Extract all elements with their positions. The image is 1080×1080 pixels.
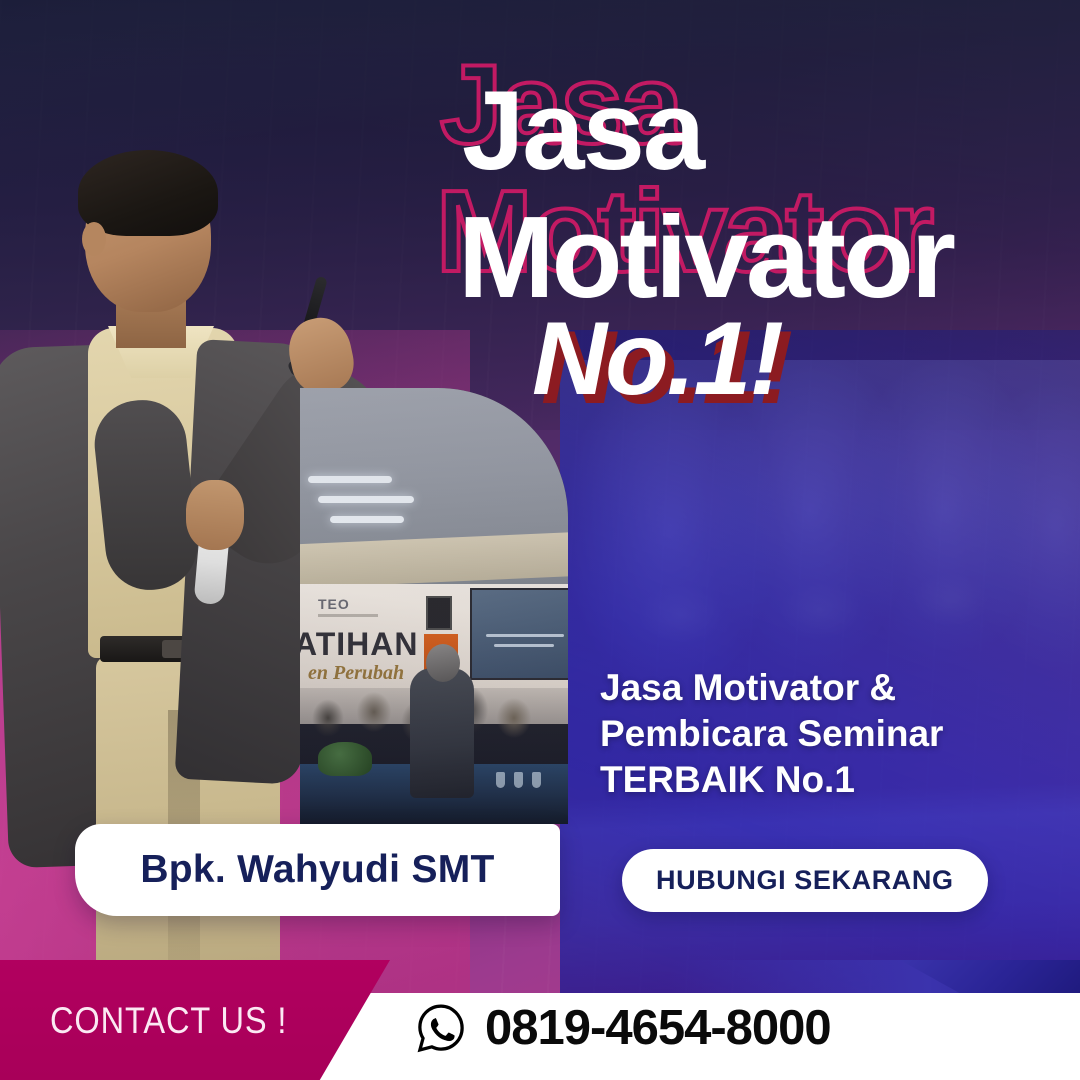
inset-training-photo: TEO ATIHAN en Perubah — [300, 388, 568, 824]
contact-us-label: CONTACT US ! — [50, 1000, 287, 1042]
headline-line-2: Motivator Motivator — [440, 168, 1040, 294]
speaker-name-label: Bpk. Wahyudi SMT — [140, 848, 494, 892]
subtitle-line-2: Pembicara Seminar — [600, 711, 1070, 757]
subtitle-line-1: Jasa Motivator & — [600, 665, 1070, 711]
speaker-ear — [82, 222, 106, 256]
inset-color-shade — [300, 388, 568, 824]
speaker-left-hand — [186, 480, 244, 550]
footer-bar: CONTACT US ! 0819-4654-8000 — [0, 960, 1080, 1080]
hubungi-sekarang-button[interactable]: HUBUNGI SEKARANG — [622, 849, 988, 912]
whatsapp-icon — [415, 1002, 467, 1054]
subtitle: Jasa Motivator & Pembicara Seminar TERBA… — [600, 665, 1070, 803]
phone-number: 0819-4654-8000 — [485, 1000, 831, 1056]
phone-row[interactable]: 0819-4654-8000 — [415, 1000, 831, 1056]
promo-poster: Jasa Jasa Motivator Motivator No.1! — [0, 0, 1080, 1080]
headline: Jasa Jasa Motivator Motivator No.1! — [440, 44, 1040, 420]
headline-line-1: Jasa Jasa — [440, 44, 1040, 166]
speaker-nameplate: Bpk. Wahyudi SMT — [75, 824, 560, 916]
headline-no1-text: No.1! — [532, 300, 782, 418]
subtitle-line-3: TERBAIK No.1 — [600, 757, 1070, 803]
